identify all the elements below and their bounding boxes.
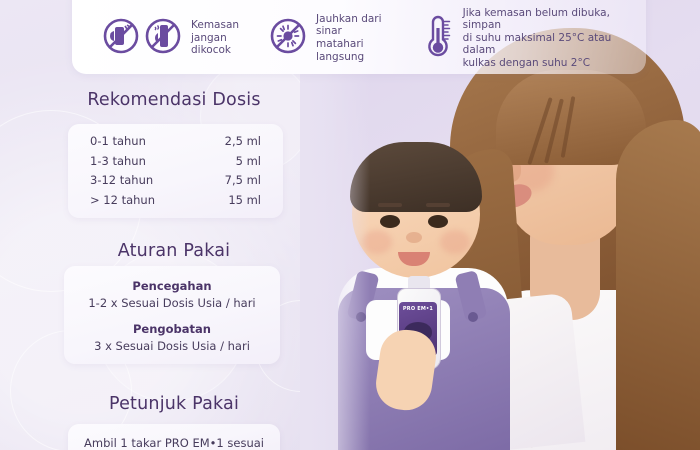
no-shake-icon [102,17,140,59]
dosage-row: 3-12 tahun 7,5 ml [90,171,261,191]
dosage-card: 0-1 tahun 2,5 ml 1-3 tahun 5 ml 3-12 tah… [68,124,283,218]
banner-text-line: Jauhkan dari [316,13,390,26]
thermometer-icon [424,14,454,62]
banner-text-line: jangan [191,32,239,45]
baby-nose [406,232,422,243]
dosage-age: 3-12 tahun [90,171,153,191]
usage-heading: Pencegahan [74,279,270,293]
usage-text: 1-2 x Sesuai Dosis Usia / hari [74,296,270,310]
baby-eye-left [380,215,400,228]
usage-section-title: Aturan Pakai [0,241,348,261]
banner-item-storage-temperature-text: Jika kemasan belum dibuka, simpan di suh… [463,7,646,70]
no-shake-icon [144,17,182,59]
baby-cheek-right [440,230,470,254]
baby-eyebrow-right [426,203,450,207]
infographic-page: PRO EM•1 [0,0,700,450]
dosage-row: 1-3 tahun 5 ml [90,152,261,172]
no-direct-sunlight-icon [269,17,307,59]
usage-heading: Pengobatan [74,322,270,336]
dosage-age: 0-1 tahun [90,132,146,152]
dosage-amount: 15 ml [228,191,261,211]
banner-text-line: sinar matahari [316,25,390,50]
banner-text-line: langsung [316,51,390,64]
banner-text-line: Jika kemasan belum dibuka, simpan [463,7,646,32]
mother-hair-right [616,120,700,450]
baby-eye-right [428,215,448,228]
banner-text-line: Kemasan [191,19,239,32]
dosage-age: 1-3 tahun [90,152,146,172]
storage-instructions-banner: Kemasan jangan dikocok [72,0,646,74]
dosage-age: > 12 tahun [90,191,155,211]
banner-text-line: kulkas dengan suhu 2°C [463,57,646,70]
dosage-amount: 5 ml [236,152,261,172]
banner-text-line: di suhu maksimal 25°C atau dalam [463,32,646,57]
dosage-row: 0-1 tahun 2,5 ml [90,132,261,152]
dosage-amount: 7,5 ml [225,171,261,191]
banner-text-line: dikocok [191,44,239,57]
dosage-amount: 2,5 ml [225,132,261,152]
instructions-card: Ambil 1 takar PRO EM•1 sesuai [68,424,280,450]
banner-item-storage-temperature: Jika kemasan belum dibuka, simpan di suh… [424,7,646,70]
baby-eyebrow-left [378,203,402,207]
dosage-row: > 12 tahun 15 ml [90,191,261,211]
banner-item-no-sunlight: Jauhkan dari sinar matahari langsung [269,13,390,63]
instructions-text: Ambil 1 takar PRO EM•1 sesuai [76,436,272,450]
usage-text: 3 x Sesuai Dosis Usia / hari [74,339,270,353]
product-bottle-label-text: PRO EM•1 [401,306,435,312]
banner-item-no-shake-text: Kemasan jangan dikocok [191,19,239,57]
usage-card: Pencegahan 1-2 x Sesuai Dosis Usia / har… [64,266,280,364]
instructions-section-title: Petunjuk Pakai [0,394,348,414]
dosage-section-title: Rekomendasi Dosis [0,90,348,110]
banner-item-no-sunlight-text: Jauhkan dari sinar matahari langsung [316,13,390,63]
banner-item-no-shake: Kemasan jangan dikocok [102,17,239,59]
baby-button [468,312,478,322]
